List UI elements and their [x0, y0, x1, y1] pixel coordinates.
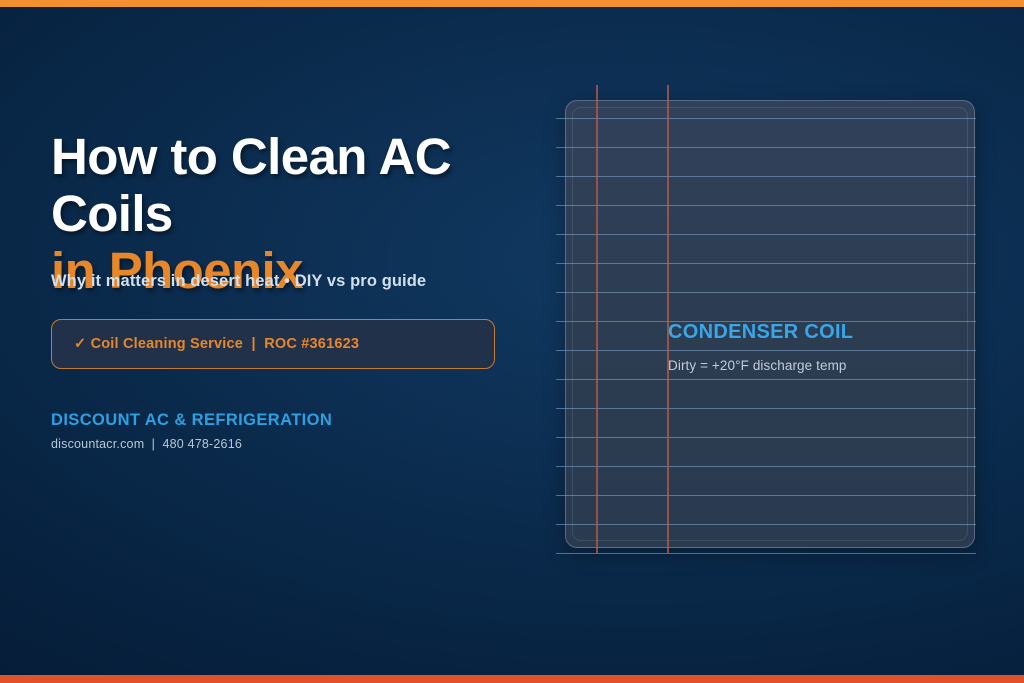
top-accent-bar: [0, 0, 1024, 7]
brand-contact[interactable]: discountacr.com | 480 478-2616: [51, 437, 242, 451]
service-badge-label: ✓ Coil Cleaning Service | ROC #361623: [52, 336, 359, 352]
notebook-margin-line-left: [596, 85, 598, 553]
service-badge[interactable]: ✓ Coil Cleaning Service | ROC #361623: [51, 319, 495, 369]
bottom-accent-bar: [0, 675, 1024, 683]
note-subtitle: Dirty = +20°F discharge temp: [668, 358, 847, 373]
hero-subtitle: Why it matters in desert heat • DIY vs p…: [51, 272, 426, 291]
hero-text-column: How to Clean AC Coils in Phoenix Why it …: [51, 128, 551, 299]
notebook-margin-line-right: [667, 85, 669, 553]
note-title: CONDENSER COIL: [668, 321, 853, 344]
slide-canvas: CONDENSER COIL Dirty = +20°F discharge t…: [0, 0, 1024, 683]
headline-line-1: How to Clean AC Coils: [51, 128, 551, 242]
notebook-rule-line: [556, 553, 976, 554]
brand-name: DISCOUNT AC & REFRIGERATION: [51, 411, 332, 430]
